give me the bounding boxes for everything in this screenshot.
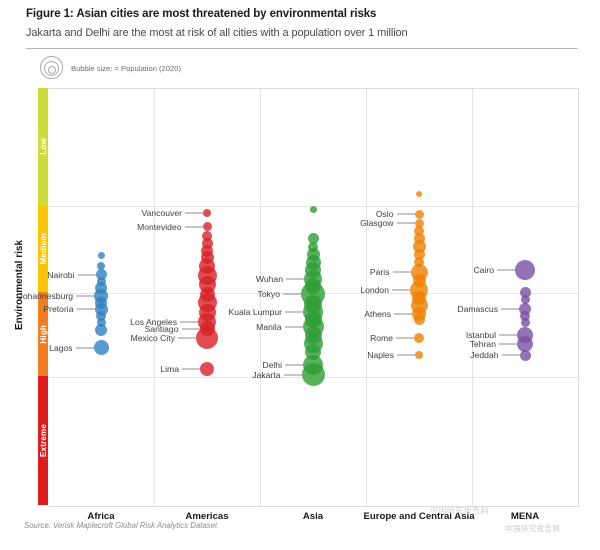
- point-label-rome: Rome: [370, 333, 393, 343]
- bubble-rome[interactable]: [414, 333, 424, 343]
- label-leader-line: [180, 321, 198, 322]
- y-axis-title: Environmental risk: [14, 240, 25, 330]
- label-leader-line: [182, 369, 200, 370]
- bubble-point[interactable]: [98, 252, 105, 259]
- label-leader-line: [497, 270, 515, 271]
- bubble-mexico-city[interactable]: [196, 327, 218, 349]
- risk-band-label: High: [39, 325, 48, 344]
- header-divider: [26, 48, 578, 49]
- label-leader-line: [397, 223, 415, 224]
- source-note: Source: Verisk Maplecroft Global Risk An…: [24, 521, 217, 530]
- chart-page: Figure 1: Asian cities are most threaten…: [0, 0, 600, 550]
- label-leader-line: [394, 314, 412, 315]
- bubble-lima[interactable]: [200, 362, 214, 376]
- bubble-point[interactable]: [95, 324, 107, 336]
- bubble-point[interactable]: [310, 206, 317, 213]
- label-leader-line: [286, 278, 304, 279]
- point-label-lagos: Lagos: [49, 343, 72, 353]
- point-label-montevideo: Montevideo: [137, 222, 181, 232]
- page-title: Figure 1: Asian cities are most threaten…: [26, 8, 574, 20]
- point-label-paris: Paris: [370, 267, 390, 277]
- point-label-mexico-city: Mexico City: [131, 333, 175, 343]
- label-leader-line: [502, 355, 520, 356]
- bubble-size-legend-label: Bubble size: = Population (2020): [71, 64, 181, 73]
- label-leader-line: [182, 328, 200, 329]
- bubble-naples[interactable]: [415, 351, 423, 359]
- label-leader-line: [501, 309, 519, 310]
- bubble-point[interactable]: [414, 314, 425, 325]
- point-label-nairobi: Nairobi: [47, 270, 74, 280]
- point-label-pretoria: Pretoria: [43, 304, 73, 314]
- plot-area: NairobiJohannesburgPretoriaLagosVancouve…: [48, 88, 579, 507]
- risk-band-low: Low: [38, 88, 48, 205]
- point-label-delhi: Delhi: [262, 360, 282, 370]
- point-label-glasgow: Glasgow: [360, 218, 393, 228]
- point-label-jeddah: Jeddah: [470, 350, 498, 360]
- bubble-montevideo[interactable]: [203, 222, 212, 231]
- bubble-point[interactable]: [416, 191, 422, 197]
- label-leader-line: [284, 374, 302, 375]
- label-leader-line: [78, 274, 96, 275]
- label-leader-line: [76, 296, 94, 297]
- point-label-kuala-lumpur: Kuala Lumpur: [228, 307, 282, 317]
- bubble-size-legend: Bubble size: = Population (2020): [40, 55, 181, 81]
- label-leader-line: [393, 272, 411, 273]
- point-label-naples: Naples: [367, 350, 394, 360]
- point-label-lima: Lima: [160, 364, 179, 374]
- label-leader-line: [285, 326, 303, 327]
- label-leader-line: [499, 344, 517, 345]
- label-leader-line: [285, 365, 303, 366]
- bubble-jeddah[interactable]: [520, 350, 531, 361]
- point-label-athens: Athens: [364, 309, 391, 319]
- risk-band-extreme: Extreme: [38, 376, 48, 505]
- bubble-vancouver[interactable]: [203, 209, 211, 217]
- label-leader-line: [185, 226, 203, 227]
- point-label-wuhan: Wuhan: [256, 274, 283, 284]
- risk-band-label: Extreme: [39, 424, 48, 457]
- label-leader-line: [185, 212, 203, 213]
- bubble-size-icon: [40, 56, 64, 80]
- label-leader-line: [283, 294, 301, 295]
- vertical-gridline: [154, 89, 155, 506]
- label-leader-line: [396, 337, 414, 338]
- point-label-jakarta: Jakarta: [252, 370, 280, 380]
- page-subtitle: Jakarta and Delhi are the most at risk o…: [26, 27, 582, 39]
- point-label-manila: Manila: [256, 322, 281, 332]
- point-label-santiago: Santiago: [145, 324, 179, 334]
- point-label-damascus: Damascus: [457, 304, 498, 314]
- x-axis-label-asia: Asia: [303, 511, 323, 522]
- vertical-gridline: [472, 89, 473, 506]
- bubble-cairo[interactable]: [515, 260, 535, 280]
- point-label-tehran: Tehran: [470, 339, 496, 349]
- bubble-lagos[interactable]: [94, 340, 109, 355]
- bubble-jakarta[interactable]: [302, 363, 325, 386]
- point-label-tokyo: Tokyo: [258, 289, 280, 299]
- bubble-point[interactable]: [521, 318, 530, 327]
- label-leader-line: [397, 354, 415, 355]
- label-leader-line: [285, 312, 303, 313]
- label-leader-line: [499, 335, 517, 336]
- bubble-oslo[interactable]: [415, 210, 424, 219]
- risk-band-label: Low: [39, 138, 48, 155]
- label-leader-line: [178, 338, 196, 339]
- watermark-bottom: 中国研究报告网: [505, 523, 560, 534]
- label-leader-line: [76, 347, 94, 348]
- label-leader-line: [397, 214, 415, 215]
- vertical-gridline: [366, 89, 367, 506]
- watermark-axis: 中国研究报告网: [430, 505, 489, 516]
- point-label-london: London: [360, 285, 389, 295]
- label-leader-line: [392, 289, 410, 290]
- point-label-cairo: Cairo: [473, 265, 494, 275]
- label-leader-line: [77, 309, 95, 310]
- point-label-vancouver: Vancouver: [142, 208, 182, 218]
- point-label-johannesburg: Johannesburg: [19, 291, 73, 301]
- risk-band-label: Medium: [39, 233, 48, 264]
- x-axis-label-mena: MENA: [511, 511, 539, 522]
